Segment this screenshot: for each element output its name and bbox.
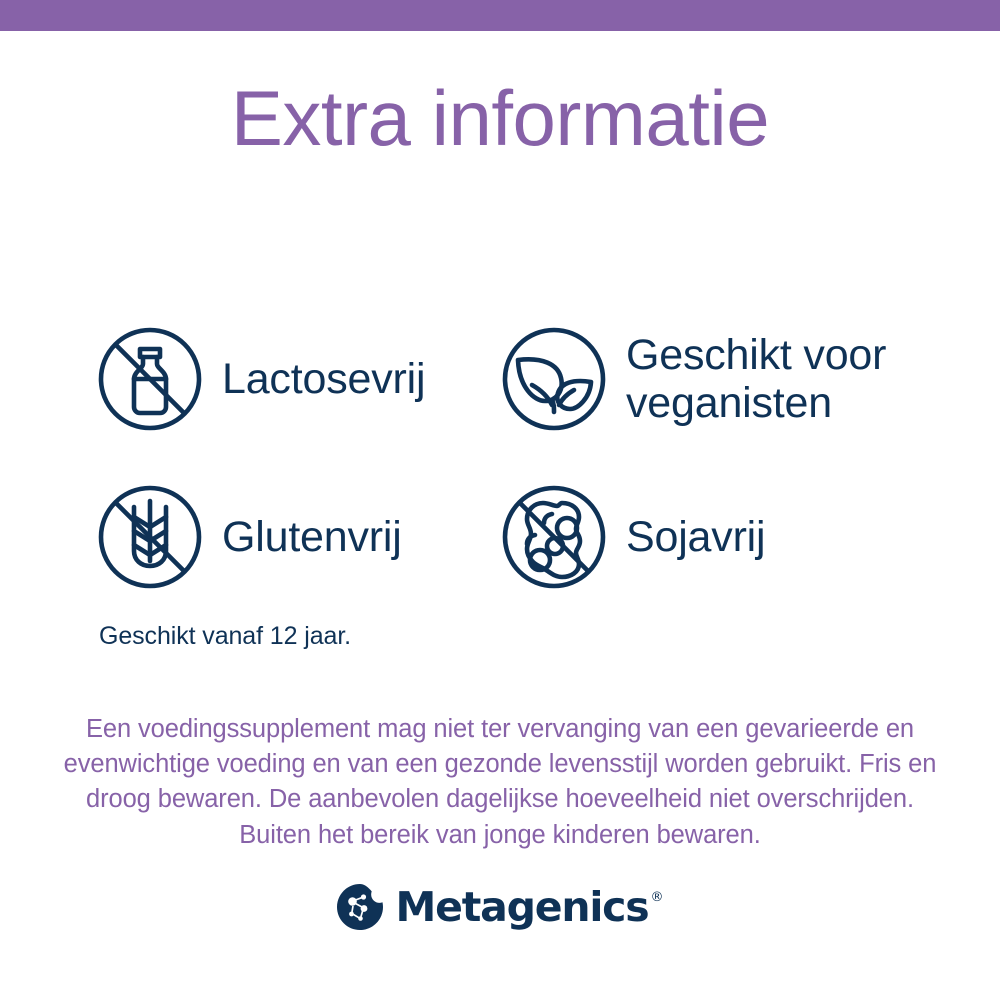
badge-label: Sojavrij [626,513,765,561]
badge-lactose-free: Lactosevrij [96,325,425,433]
disclaimer-text: Een voedingssupplement mag niet ter verv… [60,712,940,853]
top-accent-bar [0,0,1000,31]
registered-trademark-symbol: ® [650,891,663,904]
badge-soy-free: Sojavrij [500,483,765,591]
badge-grid: Lactosevrij Geschikt voor veganisten [90,325,950,595]
badge-label: Lactosevrij [222,355,425,403]
page-title: Extra informatie [0,78,1000,160]
extra-information-card: Extra informatie Lactosevrij [0,0,1000,1000]
vegan-leaves-icon [500,325,608,433]
logo-wordmark: Metagenics ® [396,887,664,928]
no-soy-bean-icon [500,483,608,591]
age-note: Geschikt vanaf 12 jaar. [99,622,351,651]
metagenics-molecule-icon [337,884,383,930]
badge-label: Glutenvrij [222,513,402,561]
no-gluten-wheat-icon [96,483,204,591]
badge-label: Geschikt voor veganisten [626,331,886,427]
no-lactose-bottle-icon [96,325,204,433]
logo-text: Metagenics [396,887,649,928]
badge-gluten-free: Glutenvrij [96,483,402,591]
badge-vegan: Geschikt voor veganisten [500,325,886,433]
brand-logo: Metagenics ® [0,884,1000,930]
